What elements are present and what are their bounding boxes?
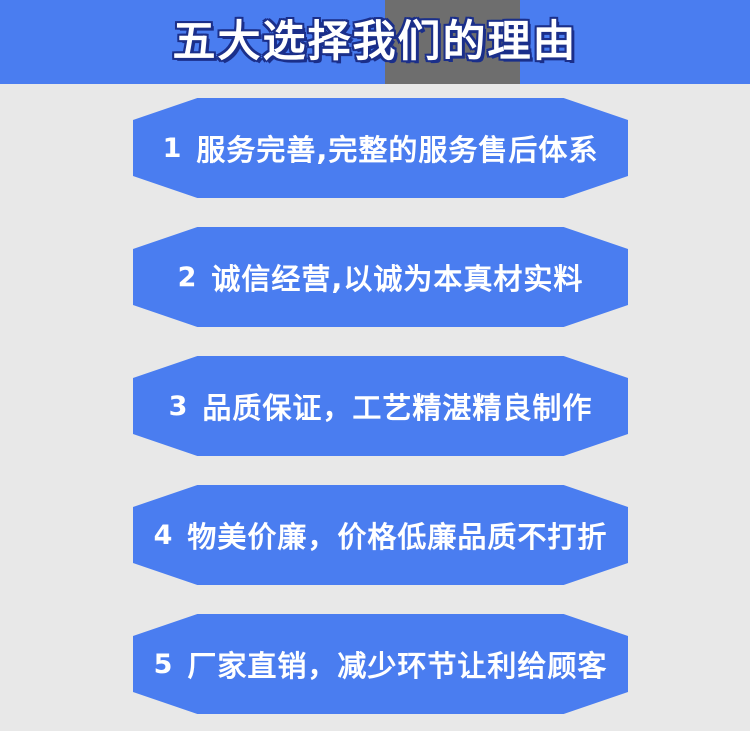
list-item: 2 诚信经营,以诚为本真材实料 [0, 213, 750, 342]
list-item: 3 品质保证，工艺精湛精良制作 [0, 342, 750, 471]
page-title: 五大选择我们的理由 [0, 0, 750, 84]
reason-label-3: 品质保证，工艺精湛精良制作 [202, 385, 592, 427]
reason-label-5: 厂家直销，减少环节让利给顾客 [187, 643, 607, 685]
reason-text-row-5: 5 厂家直销，减少环节让利给顾客 [133, 614, 628, 714]
poster-header: 五大选择我们的理由 [0, 0, 750, 84]
list-item: 1 服务完善,完整的服务售后体系 [0, 84, 750, 213]
list-item: 4 物美价廉，价格低廉品质不打折 [0, 471, 750, 600]
reason-number-4: 4 [154, 520, 174, 551]
reason-label-1: 服务完善,完整的服务售后体系 [196, 127, 598, 169]
reason-number-1: 1 [163, 133, 183, 164]
promo-poster: 五大选择我们的理由 1 服务完善,完整的服务售后体系 2 诚信经营,以诚为本真材… [0, 0, 750, 731]
list-item: 5 厂家直销，减少环节让利给顾客 [0, 600, 750, 729]
reason-number-3: 3 [169, 391, 189, 422]
reason-text-row-4: 4 物美价廉，价格低廉品质不打折 [133, 485, 628, 585]
reason-number-2: 2 [178, 262, 198, 293]
reason-text-row-1: 1 服务完善,完整的服务售后体系 [133, 98, 628, 198]
reason-label-4: 物美价廉，价格低廉品质不打折 [187, 514, 607, 556]
reason-text-row-2: 2 诚信经营,以诚为本真材实料 [133, 227, 628, 327]
reason-text-row-3: 3 品质保证，工艺精湛精良制作 [133, 356, 628, 456]
reason-list: 1 服务完善,完整的服务售后体系 2 诚信经营,以诚为本真材实料 3 品质保证，… [0, 84, 750, 731]
reason-label-2: 诚信经营,以诚为本真材实料 [211, 256, 583, 298]
reason-number-5: 5 [154, 649, 174, 680]
